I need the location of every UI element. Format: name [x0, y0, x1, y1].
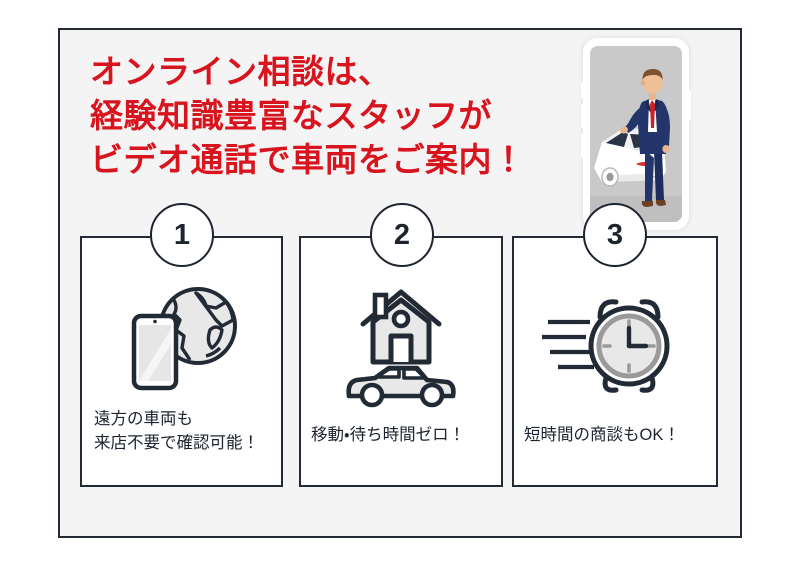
card-3-icon-wrap [514, 290, 716, 400]
card-1-icon-wrap [82, 276, 281, 394]
alarm-clock-speed-icon [540, 290, 690, 400]
phone-power-button [688, 90, 691, 120]
headline-line-2: 経験知識豊富なスタッフが [90, 94, 560, 138]
poster-canvas: オンライン相談は、 経験知識豊富なスタッフが ビデオ通話で車両をご案内！ [0, 0, 800, 565]
card-3-caption: 短時間の商談もOK！ [514, 424, 716, 448]
step-badge-1: 1 [150, 203, 214, 267]
headline-line-1: オンライン相談は、 [90, 50, 560, 94]
phone-volume-up-button [581, 104, 584, 128]
feature-card-1[interactable]: 遠方の車両も 来店不要で確認可能！ [80, 236, 283, 487]
phone-volume-down-button [581, 134, 584, 158]
house-car-icon [331, 270, 471, 410]
card-2-icon-wrap [301, 270, 501, 410]
smartphone-globe-icon [118, 276, 246, 394]
phone-screen [590, 46, 682, 222]
feature-card-3[interactable]: 短時間の商談もOK！ [512, 236, 718, 487]
page-title: オンライン相談は、 経験知識豊富なスタッフが ビデオ通話で車両をご案内！ [90, 50, 560, 182]
headline-line-3: ビデオ通話で車両をご案内！ [90, 138, 560, 182]
phone-mockup [583, 38, 689, 230]
step-badge-2: 2 [370, 203, 434, 267]
card-2-caption: 移動・待ち時間ゼロ！ [301, 424, 501, 448]
video-call-scene-illustration [590, 46, 682, 222]
phone-mute-button [581, 82, 584, 98]
card-1-caption: 遠方の車両も 来店不要で確認可能！ [82, 408, 281, 456]
feature-card-2[interactable]: 移動・待ち時間ゼロ！ [299, 236, 503, 487]
step-badge-3: 3 [583, 203, 647, 267]
